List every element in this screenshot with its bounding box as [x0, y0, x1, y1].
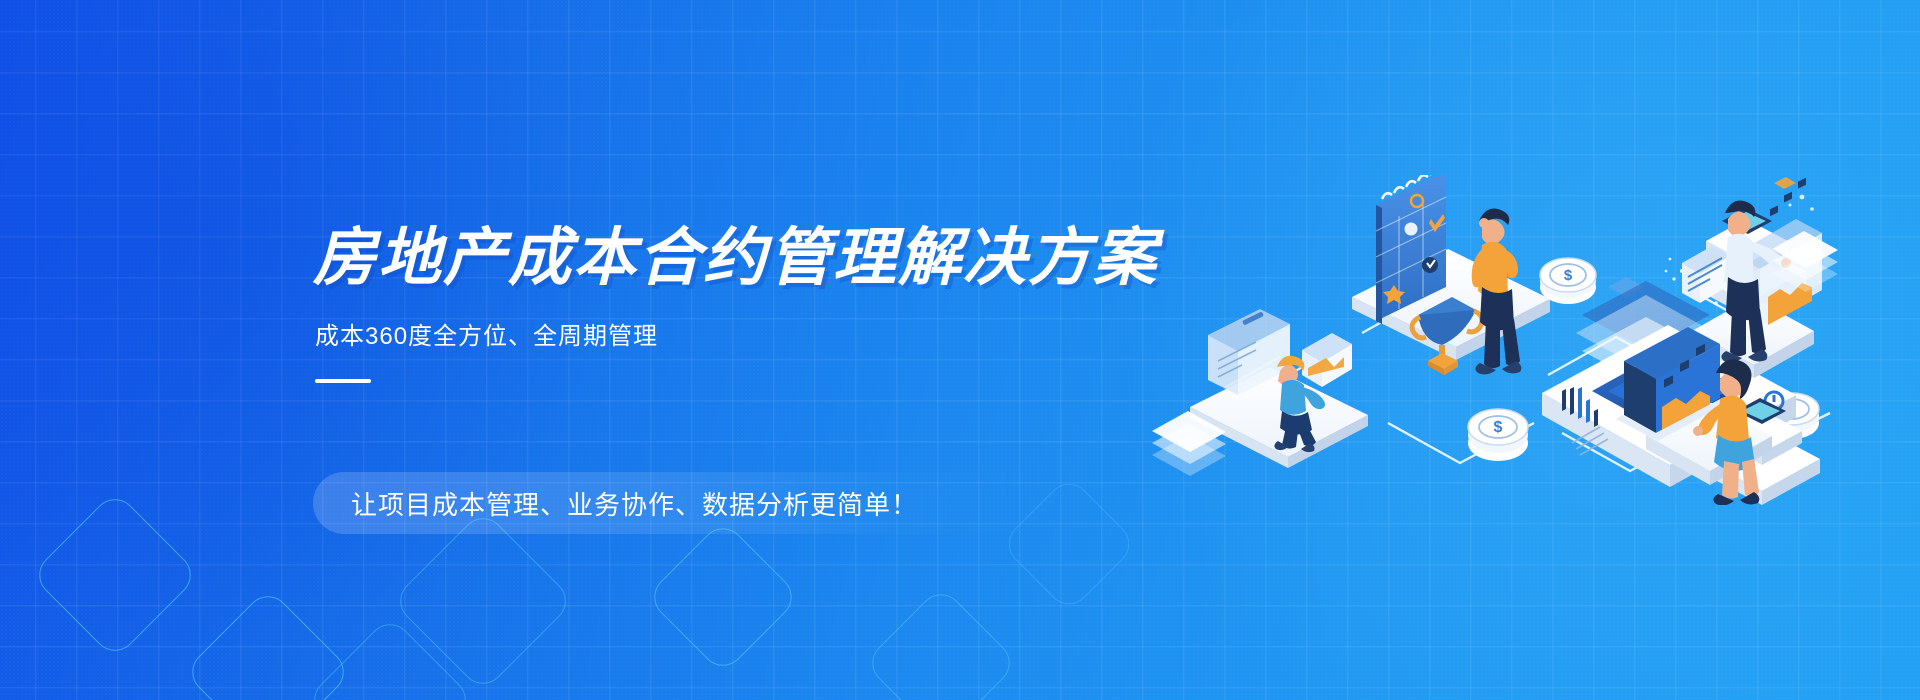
decorative-diamond: [391, 509, 575, 693]
document-card: [1682, 246, 1730, 303]
chart-dashboard-screen: [1616, 327, 1730, 441]
data-cube-platform: [1665, 177, 1814, 317]
divider-rule: [315, 379, 371, 383]
presenting-man-platform: [1596, 247, 1848, 361]
standing-man: [1472, 209, 1522, 375]
decorative-diamond: [30, 490, 200, 660]
coin-stack: $: [1468, 409, 1528, 461]
central-server-device: [1542, 258, 1796, 505]
calendar-platform: [1352, 175, 1550, 375]
picture-frame-icon: [1302, 333, 1352, 387]
paper-stack: [1772, 231, 1838, 292]
svg-text:$: $: [1564, 267, 1573, 284]
analyst-woman: [1693, 359, 1759, 505]
server-bar-chart: [1560, 387, 1598, 505]
calendar-board: [1374, 175, 1448, 324]
svg-text:$: $: [1494, 419, 1503, 436]
tagline-text: 让项目成本管理、业务协作、数据分析更简单！: [351, 485, 918, 522]
page-title: 房地产成本合约管理解决方案: [313, 226, 1073, 290]
decorative-diamond: [183, 587, 353, 700]
decorative-diamond: [305, 615, 475, 700]
paper-stack: [1152, 411, 1226, 476]
decorative-diamond: [645, 519, 801, 675]
coin-stack: $: [1540, 258, 1596, 304]
data-cube-platform: [1576, 277, 1716, 385]
isometric-cost-management-illustration: $ $ $: [1130, 175, 1870, 505]
hero-banner: 房地产成本合约管理解决方案 成本360度全方位、全周期管理 让项目成本管理、业务…: [0, 0, 1920, 700]
seated-woman-platform: [1190, 309, 1368, 468]
analyst-group-top: [1682, 178, 1822, 378]
coin-stack: $: [1765, 393, 1819, 439]
presenting-man-platform: [1658, 265, 1778, 331]
data-cube-platform: [1702, 398, 1820, 505]
analyst-group-bottom: [1616, 327, 1772, 505]
chart-dashboard-screen: [1674, 295, 1796, 363]
presenting-man: [1721, 201, 1791, 363]
page-subtitle: 成本360度全方位、全周期管理: [315, 316, 1073, 351]
trophy-icon: [1412, 297, 1482, 375]
chart-dashboard-screen: [1734, 178, 1822, 326]
connector-lines: [1226, 293, 1830, 471]
decorative-diamond: [863, 585, 1019, 700]
hero-text-block: 房地产成本合约管理解决方案 成本360度全方位、全周期管理: [313, 226, 1073, 383]
seated-woman: [1274, 356, 1325, 452]
tagline-pill: 让项目成本管理、业务协作、数据分析更简单！: [313, 472, 1038, 534]
background-glow-right: [1120, 0, 1920, 700]
svg-text:$: $: [1788, 401, 1796, 417]
